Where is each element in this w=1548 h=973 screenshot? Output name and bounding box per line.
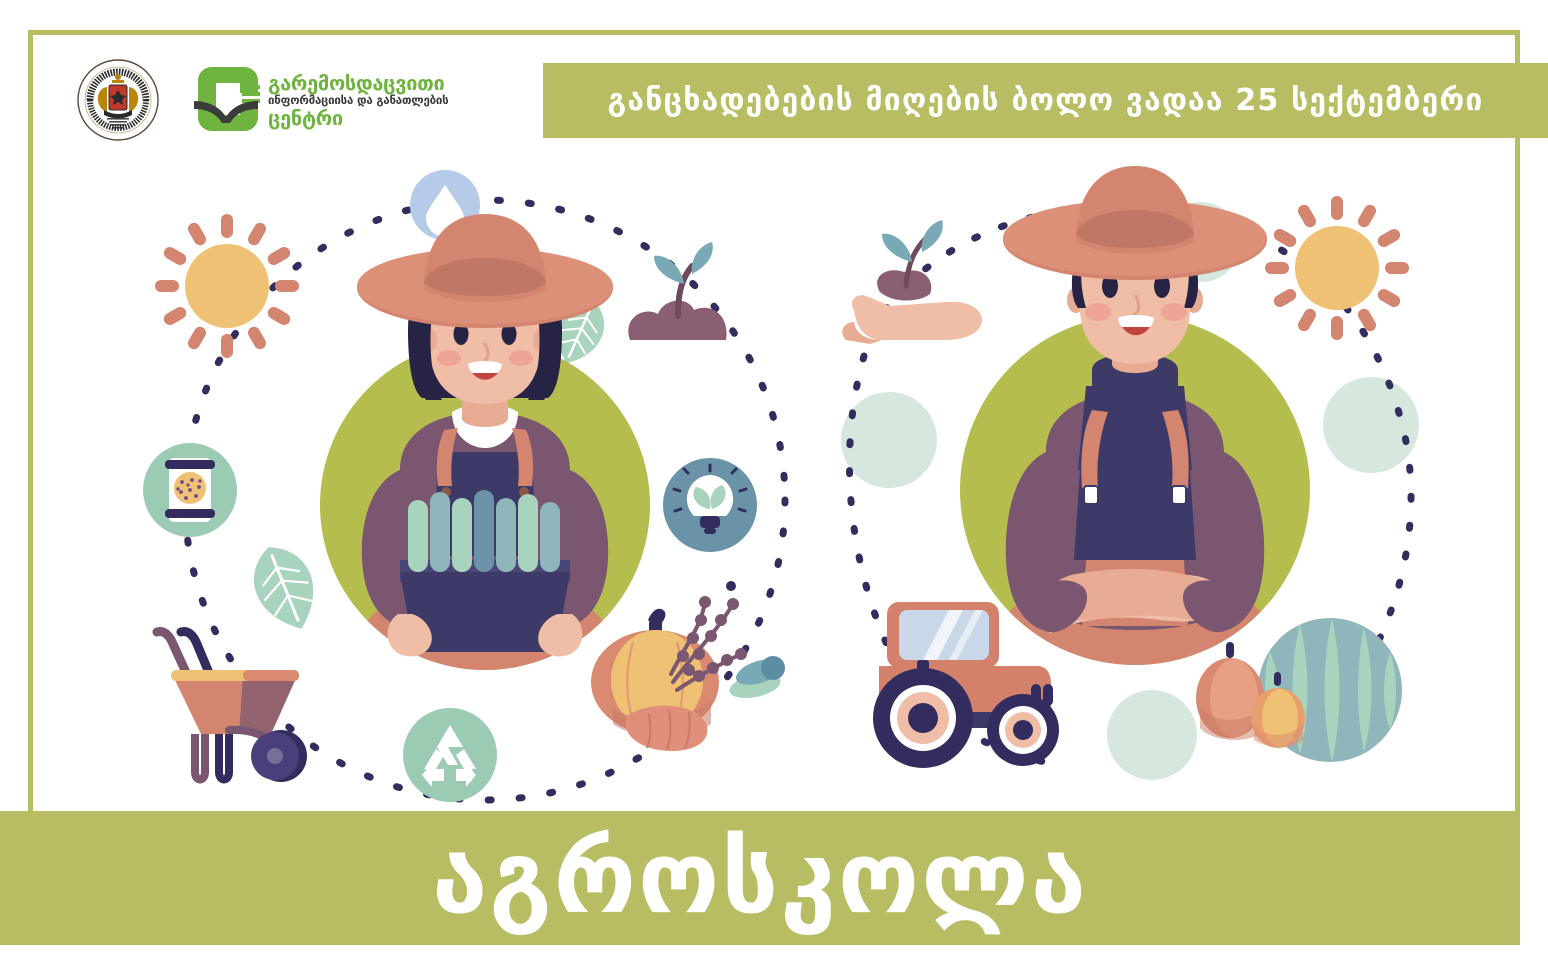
tractor-front-wheel bbox=[987, 694, 1059, 766]
wheelbarrow-icon bbox=[157, 632, 307, 783]
watermelon-and-pumpkins-icon bbox=[1196, 618, 1402, 762]
poster-canvas: გარემოსდაცვითი ინფორმაციისა და განათლები… bbox=[0, 0, 1548, 973]
logo-line-3: ცენტრი bbox=[268, 107, 468, 129]
georgia-state-coat-of-arms-seal bbox=[76, 58, 160, 142]
right-scene-group bbox=[841, 166, 1419, 780]
page-title: აგროსკოლა bbox=[432, 828, 1088, 928]
deadline-banner: განცხადებების მიღების ბოლო ვადაა 25 სექტ… bbox=[543, 63, 1548, 138]
eco-lightbulb-icon bbox=[663, 458, 757, 552]
recycle-icon bbox=[403, 708, 497, 802]
logo-line-1: გარემოსდაცვითი bbox=[268, 72, 468, 94]
organization-logo-text: გარემოსდაცვითი ინფორმაციისა და განათლები… bbox=[268, 72, 468, 130]
title-bar: აგროსკოლა bbox=[0, 811, 1520, 945]
pumpkin-and-squash-icon bbox=[591, 581, 785, 751]
bokeh-circle bbox=[1107, 690, 1197, 780]
bokeh-circle bbox=[841, 392, 937, 488]
book-leaf-logo-mark bbox=[192, 63, 264, 135]
sun-icon bbox=[1265, 196, 1409, 340]
vegetable-bundle bbox=[408, 490, 560, 572]
sprout-in-soil-icon bbox=[628, 242, 726, 340]
bokeh-circle bbox=[1323, 377, 1419, 473]
left-scene-group bbox=[143, 170, 785, 802]
hand-holding-sprout-icon bbox=[842, 220, 982, 344]
leaf-icon bbox=[242, 536, 328, 639]
deadline-banner-text: განცხადებების მიღების ბოლო ვადაა 25 სექტ… bbox=[608, 83, 1484, 118]
sun-icon bbox=[155, 214, 299, 358]
jam-jar-icon bbox=[143, 443, 237, 537]
